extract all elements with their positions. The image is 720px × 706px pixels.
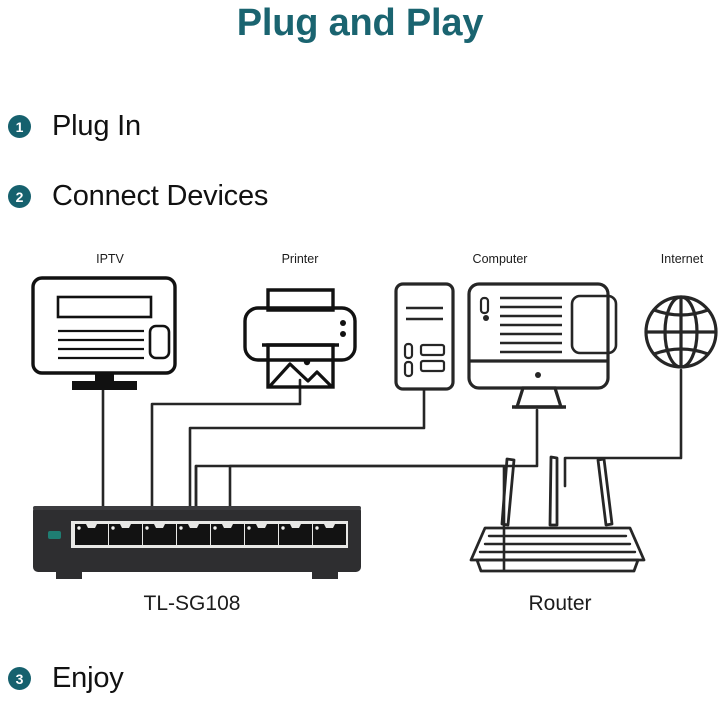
tv-stand-icon <box>72 373 137 390</box>
computer-tower-icon <box>396 284 453 389</box>
monitor-icon <box>469 284 616 407</box>
step-badge-2: 2 <box>8 185 31 208</box>
step-item-3: 3 Enjoy <box>8 662 124 695</box>
step-label-3: Enjoy <box>52 662 124 695</box>
network-topology-diagram <box>0 240 720 640</box>
globe-icon <box>646 297 716 367</box>
router-antenna-right <box>598 459 612 525</box>
step-label-1: Plug In <box>52 110 141 143</box>
step-item-1: 1 Plug In <box>8 110 141 143</box>
monitor-power-dot-icon <box>483 315 489 321</box>
cable-printer <box>152 380 300 525</box>
step-item-2: 2 Connect Devices <box>8 180 268 213</box>
wifi-router-icon <box>471 457 644 571</box>
monitor-camera-dot-icon <box>535 372 541 378</box>
router-antenna-center <box>550 457 557 525</box>
tv-icon <box>33 278 175 373</box>
router-base <box>477 560 638 571</box>
step-badge-1: 1 <box>8 115 31 138</box>
step-badge-3: 3 <box>8 667 31 690</box>
printer-indicator-dots <box>340 320 346 337</box>
page-title: Plug and Play <box>0 2 720 45</box>
switch-status-led <box>48 531 61 539</box>
plug-and-play-infographic: Plug and Play 1 Plug In 2 Connect Device… <box>0 0 720 706</box>
step-label-2: Connect Devices <box>52 180 268 213</box>
printer-paper-sun-icon <box>304 359 310 365</box>
network-switch-icon <box>33 506 361 579</box>
cable-tower <box>190 390 424 525</box>
